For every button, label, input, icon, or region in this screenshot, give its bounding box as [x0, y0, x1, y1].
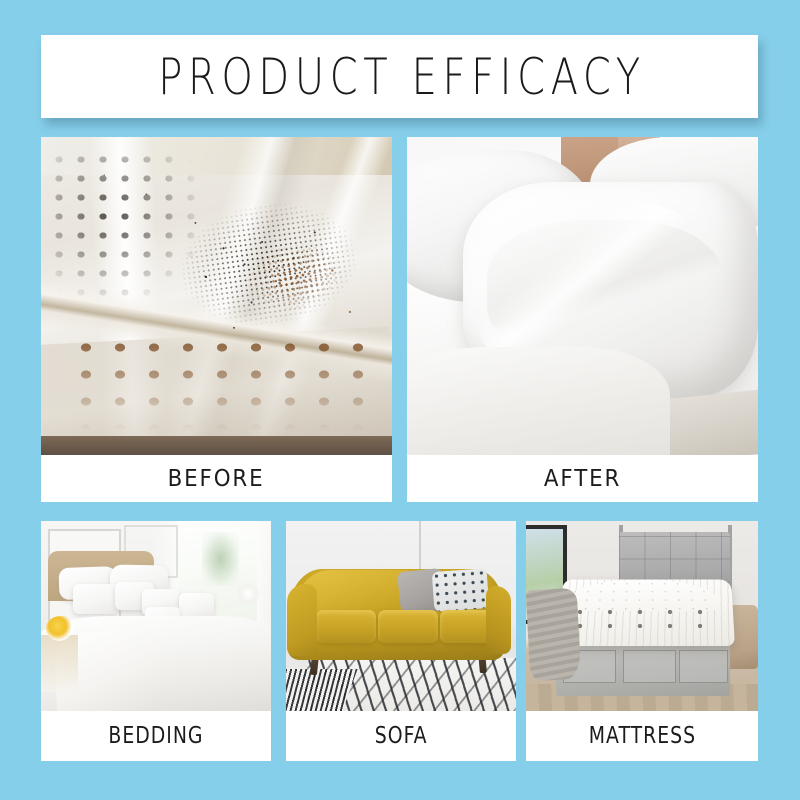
before-card: BEFORE: [41, 137, 392, 502]
seat-cushion: [378, 610, 438, 642]
after-caption: AFTER: [407, 455, 758, 502]
yellow-roses: [46, 616, 76, 641]
wood-floor-edge: [41, 436, 392, 455]
duvet-fold: [407, 347, 670, 455]
bedding-caption: BEDDING: [41, 711, 271, 761]
page-title: PRODUCT EFFICACY: [153, 52, 646, 102]
window-foliage: [202, 532, 239, 585]
white-roses: [234, 584, 262, 605]
sofa-arm-left: [287, 584, 317, 656]
patterned-cushion: [432, 569, 490, 613]
mattress-caption: MATTRESS: [526, 711, 758, 761]
nightstand-left: [41, 635, 78, 692]
seat-cushion: [316, 610, 376, 642]
after-label: AFTER: [544, 466, 621, 492]
product-efficacy-poster: PRODUCT EFFICACY BEFORE: [0, 0, 800, 800]
soiled-pillowcase-photo: [41, 137, 392, 455]
sofa-caption: SOFA: [286, 711, 516, 761]
bedding-card: BEDDING: [41, 521, 271, 761]
divan-drawer: [679, 650, 727, 682]
debris-lower-field: [69, 334, 371, 442]
mustard-sofa-photo: [286, 521, 516, 711]
before-caption: BEFORE: [41, 455, 392, 502]
clean-pillows-photo: [407, 137, 758, 455]
mattress-tufting-buttons: [565, 605, 727, 632]
mattress-card: MATTRESS: [526, 521, 758, 761]
divan-mattress-photo: [526, 521, 758, 711]
after-card: AFTER: [407, 137, 758, 502]
divan-drawer: [623, 650, 676, 682]
mattress-label: MATTRESS: [588, 723, 695, 749]
title-banner: PRODUCT EFFICACY: [41, 35, 758, 118]
bedding-label: BEDDING: [108, 723, 203, 749]
bed-pillow: [73, 584, 119, 614]
grey-throw-blanket: [526, 588, 582, 682]
white-bedroom-photo: [41, 521, 271, 711]
sofa-card: SOFA: [286, 521, 516, 761]
seat-cushion: [440, 610, 491, 642]
sofa-arm-right: [486, 586, 511, 654]
before-label: BEFORE: [168, 466, 265, 492]
bed-pillow: [179, 593, 214, 618]
sofa-label: SOFA: [375, 723, 428, 749]
